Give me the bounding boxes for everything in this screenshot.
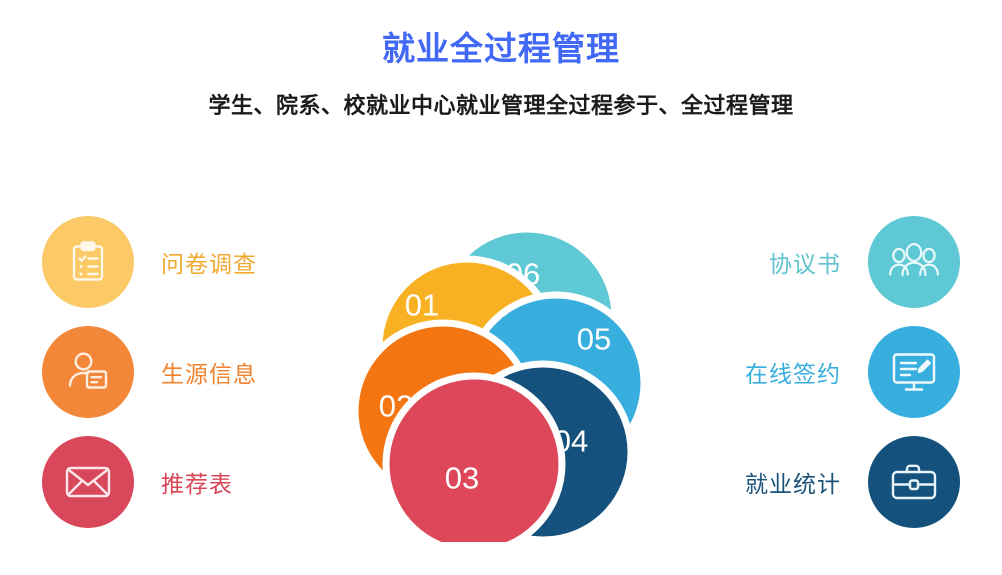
- feature-label-agreement: 协议书: [769, 245, 841, 279]
- feature-item-student-source[interactable]: 生源信息: [42, 326, 257, 418]
- infographic-canvas: 就业全过程管理 学生、院系、校就业中心就业管理全过程参于、全过程管理 问卷调查: [0, 0, 1002, 575]
- person-id-card-icon: [62, 347, 114, 397]
- pinwheel-petals: 06 01 05 02: [355, 229, 644, 542]
- envelope-icon-badge: [42, 436, 134, 528]
- people-group-icon: [886, 241, 942, 283]
- pinwheel-petal-01-number: 01: [405, 288, 439, 323]
- briefcase-icon-badge: [868, 436, 960, 528]
- briefcase-icon: [888, 459, 940, 505]
- monitor-sign-icon: [888, 348, 940, 396]
- page-subtitle: 学生、院系、校就业中心就业管理全过程参于、全过程管理: [0, 88, 1002, 120]
- people-group-icon-badge: [868, 216, 960, 308]
- page-title: 就业全过程管理: [0, 22, 1002, 70]
- pinwheel-petal-03[interactable]: 03: [386, 376, 562, 542]
- pinwheel-petal-03-number: 03: [445, 461, 479, 496]
- feature-label-online-signing: 在线签约: [745, 355, 841, 389]
- clipboard-checklist-icon: [63, 237, 113, 287]
- feature-item-questionnaire[interactable]: 问卷调查: [42, 216, 257, 308]
- pinwheel-diagram: 06 01 05 02: [331, 212, 671, 542]
- clipboard-checklist-icon-badge: [42, 216, 134, 308]
- feature-item-employment-statistics[interactable]: 就业统计: [745, 436, 960, 528]
- feature-label-recommendation-form: 推荐表: [161, 465, 233, 499]
- pinwheel-petal-05-number: 05: [577, 322, 611, 357]
- pinwheel-svg: 06 01 05 02: [331, 212, 671, 542]
- feature-label-student-source: 生源信息: [161, 355, 257, 389]
- person-id-card-icon-badge: [42, 326, 134, 418]
- feature-label-questionnaire: 问卷调查: [161, 245, 257, 279]
- envelope-icon: [62, 460, 114, 504]
- feature-label-employment-statistics: 就业统计: [745, 465, 841, 499]
- feature-item-online-signing[interactable]: 在线签约: [745, 326, 960, 418]
- feature-item-recommendation-form[interactable]: 推荐表: [42, 436, 233, 528]
- feature-item-agreement[interactable]: 协议书: [769, 216, 960, 308]
- monitor-sign-icon-badge: [868, 326, 960, 418]
